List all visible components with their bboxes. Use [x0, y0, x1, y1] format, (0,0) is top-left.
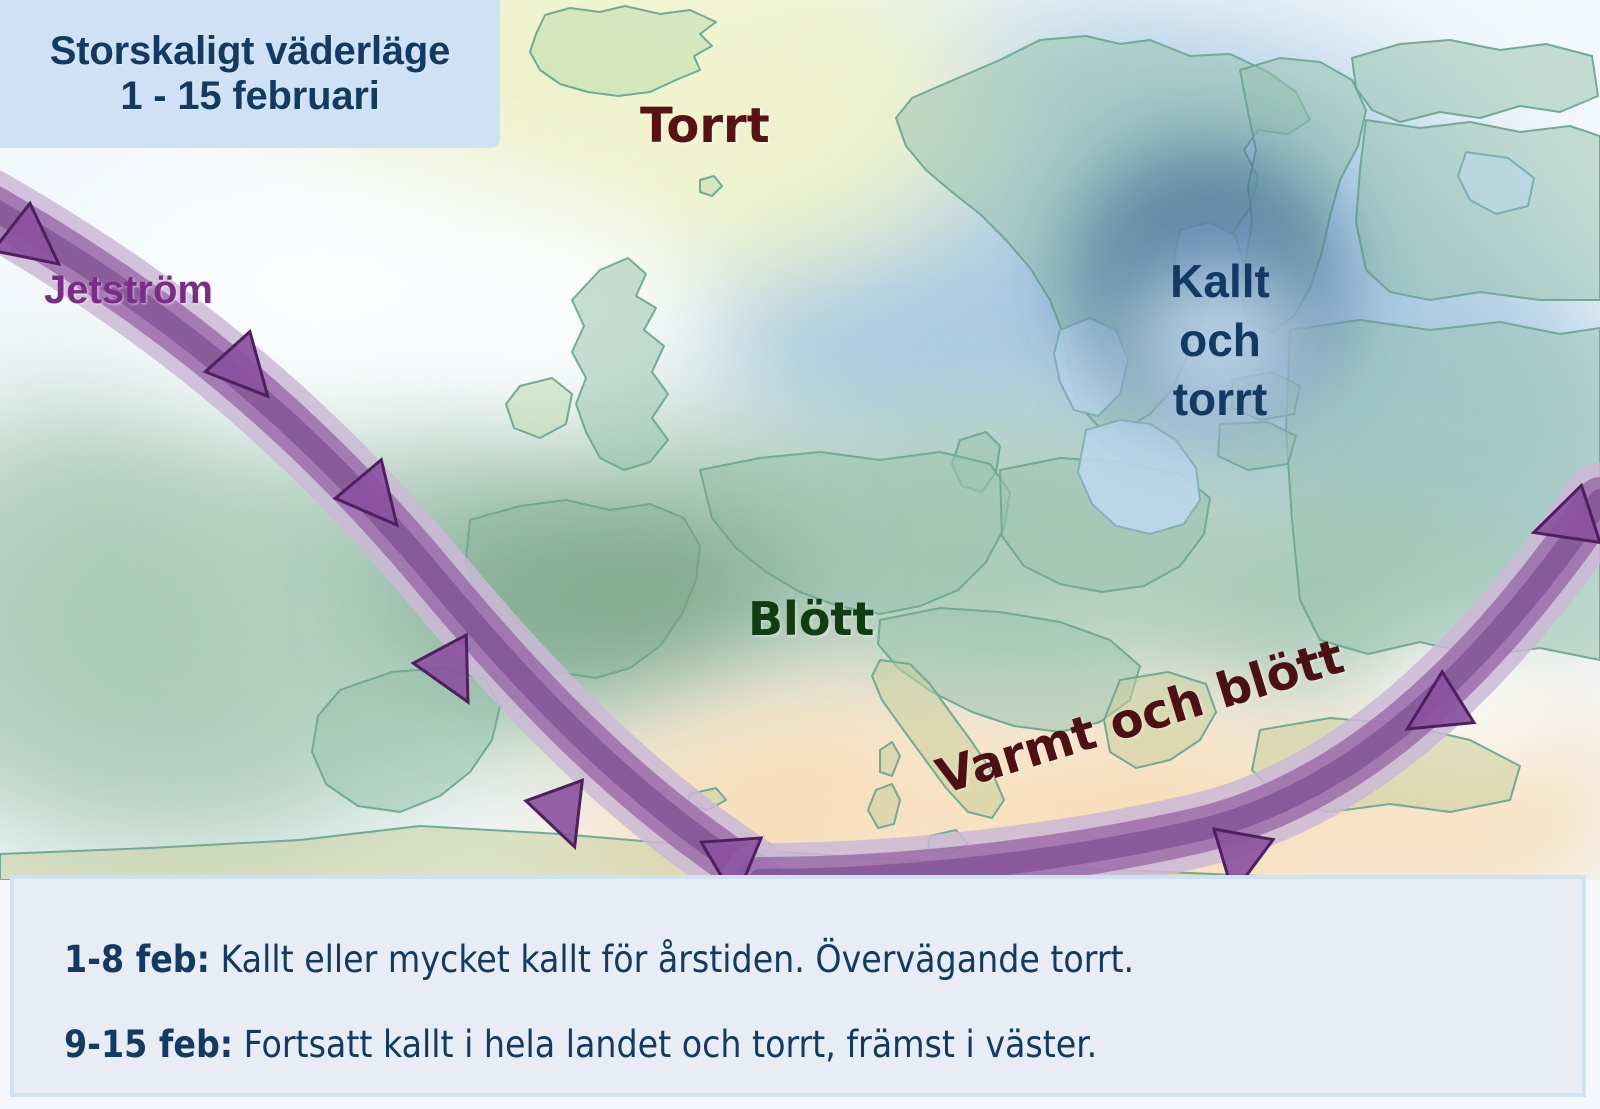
- weather-outlook-infographic: Torrt Blött Kallt och torrt Varmt och bl…: [0, 0, 1600, 1109]
- title-box: Storskaligt väderläge 1 - 15 februari: [0, 0, 500, 148]
- page-title-line2: 1 - 15 februari: [120, 74, 379, 119]
- caption-row-1: 1-8 feb: Kallt eller mycket kallt för år…: [14, 941, 1582, 978]
- caption-row-2-text: Fortsatt kallt i hela landet och torrt, …: [233, 1023, 1097, 1066]
- page-title-line1: Storskaligt väderläge: [50, 29, 450, 74]
- caption-row-1-text: Kallt eller mycket kallt för årstiden. Ö…: [210, 938, 1134, 981]
- caption-row-2: 9-15 feb: Fortsatt kallt i hela landet o…: [14, 1026, 1582, 1063]
- label-wet: Blött: [748, 592, 874, 646]
- label-cold-and-dry: Kallt och torrt: [1110, 252, 1330, 429]
- label-cold-line3: torrt: [1110, 370, 1330, 429]
- label-cold-line1: Kallt: [1110, 252, 1330, 311]
- caption-row-1-period: 1-8 feb:: [64, 938, 210, 981]
- label-dry: Torrt: [640, 98, 770, 154]
- forecast-caption: 1-8 feb: Kallt eller mycket kallt för år…: [10, 875, 1586, 1097]
- caption-row-2-period: 9-15 feb:: [64, 1023, 233, 1066]
- label-jetstream: Jetström: [44, 268, 213, 313]
- label-cold-line2: och: [1110, 311, 1330, 370]
